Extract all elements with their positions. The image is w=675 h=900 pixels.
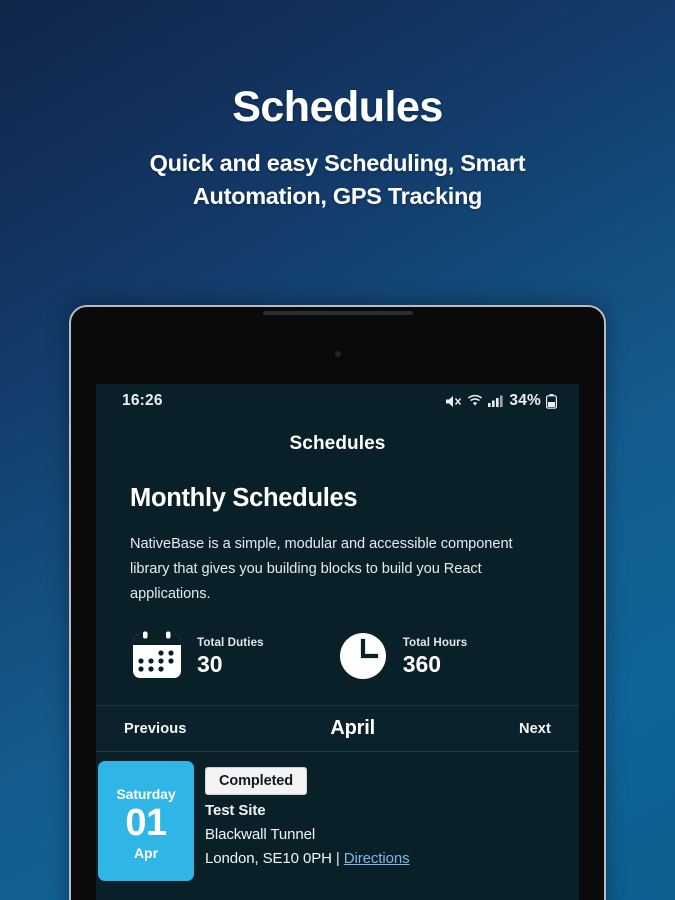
status-time: 16:26 <box>122 392 163 410</box>
schedule-site-name: Test Site <box>205 802 579 819</box>
stat-value: 360 <box>403 651 468 677</box>
schedule-address: London, SE10 0PH <box>205 850 332 867</box>
schedule-list[interactable]: Saturday 01 Apr Completed Test Site Blac… <box>96 752 579 900</box>
stat-total-duties: Total Duties 30 <box>130 629 264 683</box>
signal-icon <box>488 394 503 408</box>
month-navigation: Previous April Next <box>96 705 579 752</box>
promo-subtitle: Quick and easy Scheduling, Smart Automat… <box>0 147 675 214</box>
page-title: Monthly Schedules <box>130 484 545 513</box>
schedule-card-body: Completed Test Site Blackwall Tunnel Lon… <box>194 761 579 881</box>
app-screen: 16:26 <box>96 384 579 900</box>
wifi-icon <box>467 394 483 408</box>
directions-link[interactable]: Directions <box>344 850 410 867</box>
status-icons: 34% <box>445 392 557 410</box>
battery-icon <box>546 394 557 409</box>
schedule-address-row: London, SE10 0PH | Directions <box>205 850 579 867</box>
current-month-label: April <box>330 717 375 740</box>
previous-month-button[interactable]: Previous <box>124 721 186 737</box>
date-day-of-week: Saturday <box>116 786 175 802</box>
stat-label: Total Duties <box>197 636 264 649</box>
front-camera-icon <box>335 351 341 357</box>
speaker-slot <box>263 311 413 315</box>
promo-header: Schedules Quick and easy Scheduling, Sma… <box>0 0 675 214</box>
app-body: Monthly Schedules NativeBase is a simple… <box>96 470 579 900</box>
date-month-abbr: Apr <box>134 845 158 861</box>
clock-icon <box>336 629 390 683</box>
status-bar: 16:26 <box>96 384 579 418</box>
date-badge: Saturday 01 Apr <box>98 761 194 881</box>
app-bar: Schedules <box>96 418 579 470</box>
promo-title: Schedules <box>0 86 675 129</box>
stat-total-hours: Total Hours 360 <box>336 629 468 683</box>
status-badge: Completed <box>205 767 307 795</box>
app-bar-title: Schedules <box>290 433 386 455</box>
hero-section: Monthly Schedules NativeBase is a simple… <box>96 470 579 607</box>
tablet-device: 16:26 <box>69 305 606 900</box>
address-separator: | <box>336 850 340 867</box>
schedule-location: Blackwall Tunnel <box>205 826 579 843</box>
stat-label: Total Hours <box>403 636 468 649</box>
next-month-button[interactable]: Next <box>519 721 551 737</box>
battery-percent: 34% <box>509 392 541 410</box>
stat-value: 30 <box>197 651 264 677</box>
date-day-number: 01 <box>125 804 166 844</box>
schedule-card[interactable]: Saturday 01 Apr Completed Test Site Blac… <box>96 761 579 881</box>
mute-icon <box>445 394 462 409</box>
stats-row: Total Duties 30 Total Hours 360 <box>96 607 579 705</box>
page-description: NativeBase is a simple, modular and acce… <box>130 532 520 607</box>
calendar-icon <box>130 629 184 683</box>
